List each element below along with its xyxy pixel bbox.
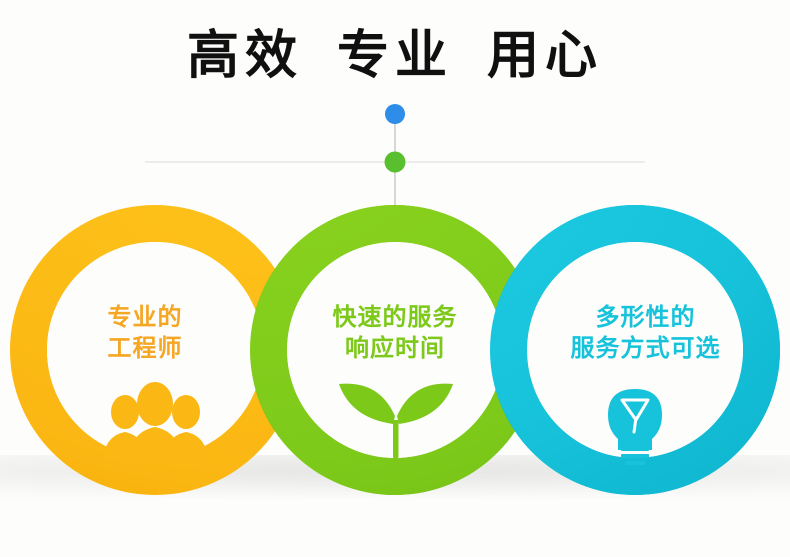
venn-rings-graphic — [0, 0, 790, 557]
circle-engineers-line1: 专业的 — [45, 302, 245, 333]
circle-response-label: 快速的服务 响应时间 — [295, 302, 495, 363]
circle-engineers-label: 专业的 工程师 — [45, 302, 245, 363]
circle-response-line1: 快速的服务 — [295, 302, 495, 333]
circle-engineers-line2: 工程师 — [45, 333, 245, 364]
circle-response-line2: 响应时间 — [295, 333, 495, 364]
circle-flexible-line2: 服务方式可选 — [538, 333, 753, 364]
circle-flexible-label: 多形性的 服务方式可选 — [538, 302, 753, 363]
poster-canvas: 高效 专业 用心 — [0, 0, 790, 557]
circle-flexible-line1: 多形性的 — [538, 302, 753, 333]
